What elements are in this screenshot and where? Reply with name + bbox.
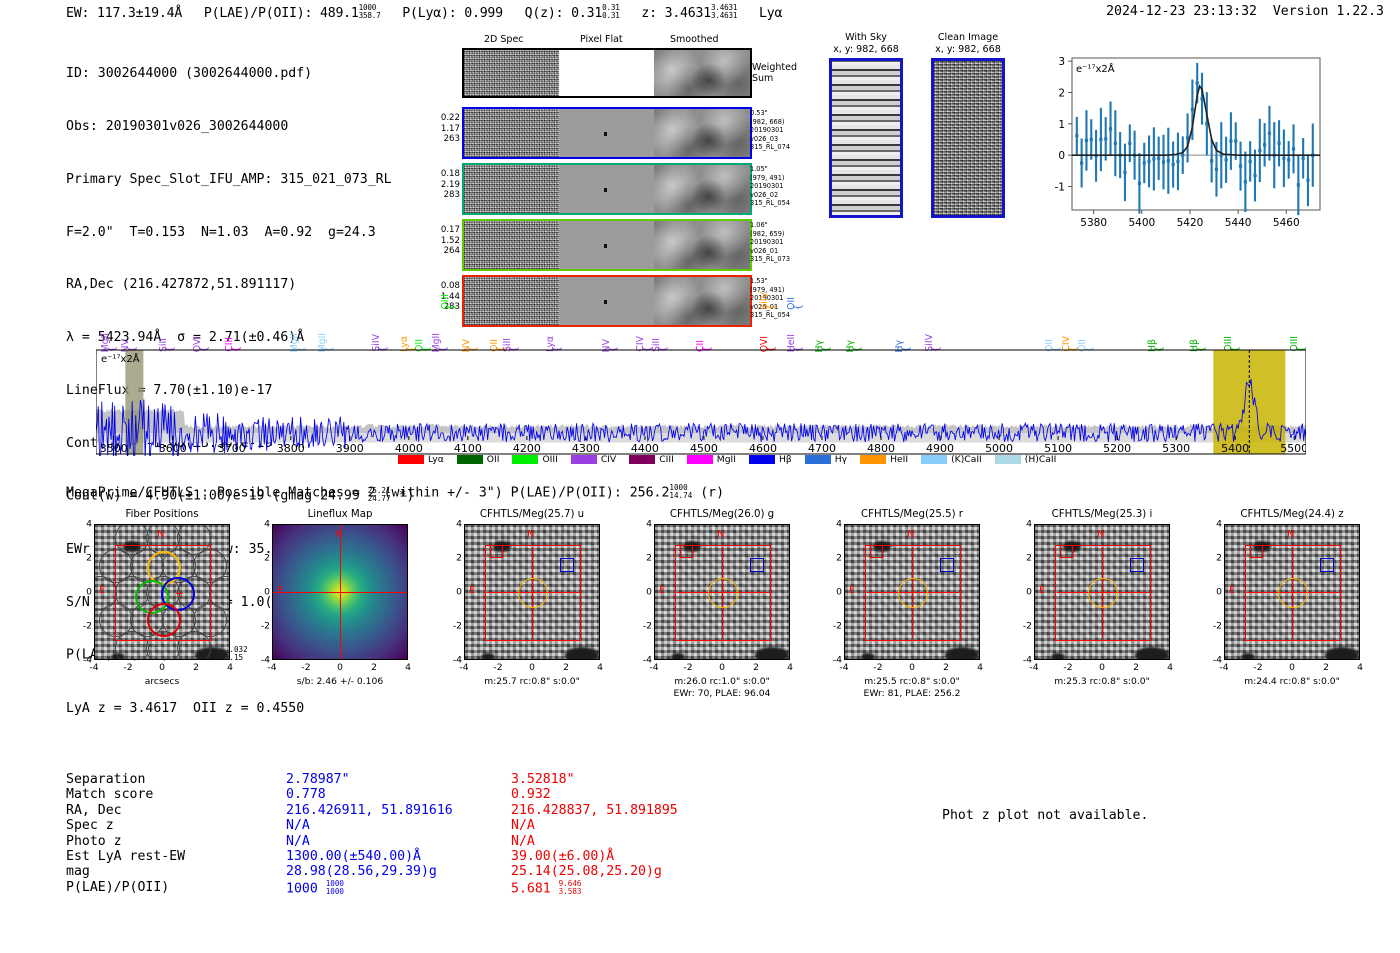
ytick: 2: [1216, 553, 1222, 564]
svg-text:5440: 5440: [1225, 217, 1252, 229]
legend-label-10: (H)CaII: [1025, 454, 1057, 465]
xtick: 0: [337, 662, 343, 673]
source-blob-1: [1135, 647, 1169, 660]
source-blob-2: [481, 653, 495, 660]
fiber-row-2-metadata: 1.05"(979, 491)20190301v026_02315_RL_054: [750, 165, 812, 208]
title-smoothed: Smoothed: [670, 34, 719, 45]
match-table-row: Separation2.78987"3.52818": [66, 772, 678, 787]
line-name: Lyα: [759, 6, 782, 21]
legend-swatch-9: [921, 455, 947, 464]
weighted-sum-label: WeightedSum: [752, 62, 808, 84]
svg-text:0: 0: [1058, 150, 1065, 162]
east-label: E: [1039, 585, 1045, 596]
match-row-label: Est LyA rest-EW: [66, 849, 286, 864]
legend-item-hβ: Hβ: [749, 454, 792, 465]
legend-swatch-7: [805, 455, 831, 464]
xtick: 4: [1357, 662, 1363, 673]
crosshair-vertical: [340, 525, 341, 659]
qz-summary: Q(z): 0.310.310.31: [525, 6, 620, 21]
fiber-row-3-2dspec: [464, 221, 559, 269]
ytick: 4: [836, 519, 842, 530]
match-row-label: P(LAE)/P(OII): [66, 880, 286, 897]
cutout-panel-1[interactable]: Lineflux MapNE-4-2024420-2-4s/b: 2.46 +/…: [240, 508, 440, 688]
svg-text:-1: -1: [1055, 181, 1065, 193]
z-summary: z: 3.46313.46313.4631: [641, 6, 737, 21]
weighted-sum-smoothed: [654, 50, 750, 96]
match-table-row: RA, Dec216.426911, 51.891616216.428837, …: [66, 803, 678, 818]
ytick: 2: [456, 553, 462, 564]
xtick: 4: [597, 662, 603, 673]
match-row-value-2: N/A: [511, 834, 678, 849]
north-label: N: [907, 529, 914, 540]
xtick: -2: [123, 662, 132, 673]
ytick: 0: [1026, 587, 1032, 598]
match-table-row: Spec zN/AN/A: [66, 818, 678, 833]
cutout-image-3[interactable]: NE-4-2024420-2-4: [654, 524, 790, 660]
spectrum-flux-units: e⁻¹⁷x2Å: [101, 352, 140, 365]
legend-label-8: HeII: [890, 454, 908, 465]
field-of-view-box: [1055, 545, 1151, 641]
ytick: 2: [836, 553, 842, 564]
xtick: 0: [159, 662, 165, 673]
match-row-value-2: 216.428837, 51.891895: [511, 803, 678, 818]
field-of-view-box: [115, 545, 211, 641]
north-label: N: [527, 529, 534, 540]
svg-text:5200: 5200: [1103, 442, 1131, 455]
cutout-row: Fiber Positions+NE-4-2024420-2-4arcsecsL…: [0, 508, 1400, 728]
svg-text:5420: 5420: [1177, 217, 1204, 229]
cutout-yticks-6: 420-2-4: [1204, 524, 1222, 660]
xtick: 4: [227, 662, 233, 673]
legend-item-oiii: OIII: [512, 454, 557, 465]
match-table-row: Match score0.7780.932: [66, 787, 678, 802]
match-row-value-1: 28.98(28.56,29.39)g: [286, 864, 511, 879]
cutout-caption-0: arcsecs: [62, 676, 262, 688]
north-label: N: [1097, 529, 1104, 540]
cutout-yticks-4: 420-2-4: [824, 524, 842, 660]
fiber-row-1-2dspec: [464, 109, 559, 157]
legend-swatch-3: [571, 455, 597, 464]
legend-swatch-0: [398, 455, 424, 464]
clean-image-thumb[interactable]: Clean Image x, y: 982, 668: [922, 32, 1014, 218]
legend-swatch-2: [512, 455, 538, 464]
info-line-params: F=2.0" T=0.153 N=1.03 A=0.92 g=24.3: [66, 224, 414, 242]
match-row-value-1: 0.778: [286, 787, 511, 802]
xtick: 4: [405, 662, 411, 673]
ytick: -4: [83, 655, 92, 666]
ytick: -2: [1023, 621, 1032, 632]
source-blob-1: [565, 647, 599, 660]
ytick: 0: [86, 587, 92, 598]
ytick: 4: [264, 519, 270, 530]
cutout-caption-6: m:24.4 rc:0.8" s:0.0": [1192, 676, 1392, 688]
match-row-value-2: 25.14(25.08,25.20)g: [511, 864, 678, 879]
north-label: N: [335, 529, 342, 540]
cutout-panel-5[interactable]: CFHTLS/Meg(25.3) iNE-4-2024420-2-4m:25.3…: [1002, 508, 1202, 688]
cutout-caption-5: m:25.3 rc:0.8" s:0.0": [1002, 676, 1202, 688]
cutout-image-4[interactable]: NE-4-2024420-2-4: [844, 524, 980, 660]
match-row-value-2: 39.00(±6.00)Å: [511, 849, 678, 864]
cutout-frame-5: NE: [1034, 524, 1170, 660]
plya-summary: P(Lyα): 0.999: [402, 6, 503, 21]
ytick: 0: [646, 587, 652, 598]
svg-text:3: 3: [1058, 56, 1065, 68]
ytick: -2: [643, 621, 652, 632]
cutout-frame-6: NE: [1224, 524, 1360, 660]
match-row-value-1: 216.426911, 51.891616: [286, 803, 511, 818]
match-row-value-1: 1300.00(±540.00)Å: [286, 849, 511, 864]
east-label: E: [99, 585, 105, 596]
legend-label-0: Lyα: [428, 454, 444, 465]
east-label: E: [1229, 585, 1235, 596]
cutout-panel-3[interactable]: CFHTLS/Meg(26.0) gNE-4-2024420-2-4m:26.0…: [622, 508, 822, 699]
svg-text:3500: 3500: [100, 442, 128, 455]
match-table-row: Est LyA rest-EW1300.00(±540.00)Å39.00(±6…: [66, 849, 678, 864]
fiber-row-2-smoothed: [654, 165, 750, 213]
ytick: -2: [1213, 621, 1222, 632]
match-row-value-1: N/A: [286, 834, 511, 849]
xtick: -2: [493, 662, 502, 673]
line-bracket-11: {: [448, 304, 458, 310]
clean-image-title: Clean Image: [922, 32, 1014, 44]
pixel-flat-defect-marker: [604, 188, 607, 192]
legend-item-hγ: Hγ: [805, 454, 847, 465]
megaprime-header: MegaPrime/CFHTLS : Possible Matches = 2 …: [66, 484, 724, 501]
weighted-sum-pixelflat: [559, 50, 654, 96]
fiber-row-2-2dspec: [464, 165, 559, 213]
fiber-row-2[interactable]: 0.182.192831.05"(979, 491)20190301v026_0…: [462, 163, 752, 215]
field-of-view-box: [1245, 545, 1341, 641]
timestamp: 2024-12-23 23:13:32: [1106, 4, 1257, 19]
cutout-image-1[interactable]: NE-4-2024420-2-4: [272, 524, 408, 660]
legend-item-heii: HeII: [860, 454, 908, 465]
xtick: -2: [301, 662, 310, 673]
ytick: 4: [86, 519, 92, 530]
legend-label-3: CIV: [601, 454, 616, 465]
xtick: 0: [1289, 662, 1295, 673]
match-row-label: Separation: [66, 772, 286, 787]
cutout-image-2[interactable]: NE-4-2024420-2-4: [464, 524, 600, 660]
match-row-label: Spec z: [66, 818, 286, 833]
legend-item-oii: OII: [457, 454, 500, 465]
ytick: -2: [833, 621, 842, 632]
source-blob-1: [755, 647, 789, 660]
timestamp-version: 2024-12-23 23:13:32 Version 1.22.3: [1106, 4, 1384, 19]
ytick: -2: [453, 621, 462, 632]
match-row-label: mag: [66, 864, 286, 879]
svg-text:5380: 5380: [1080, 217, 1107, 229]
xtick: 2: [753, 662, 759, 673]
legend-item-kcaii: (K)CaII: [921, 454, 982, 465]
legend-swatch-1: [457, 455, 483, 464]
cutout-frame-0: +NE: [94, 524, 230, 660]
svg-text:5460: 5460: [1273, 217, 1300, 229]
legend-swatch-6: [749, 455, 775, 464]
field-of-view-box: [675, 545, 771, 641]
xtick: -2: [683, 662, 692, 673]
ew-summary: EW: 117.3±19.4Å: [66, 6, 182, 21]
north-label: N: [157, 529, 164, 540]
clean-image-coords: x, y: 982, 668: [922, 44, 1014, 56]
svg-text:5400: 5400: [1221, 442, 1249, 455]
legend-label-6: Hβ: [779, 454, 792, 465]
ytick: 4: [1216, 519, 1222, 530]
xtick: 2: [1133, 662, 1139, 673]
match-row-value-1: N/A: [286, 818, 511, 833]
cutout-image-5[interactable]: NE-4-2024420-2-4: [1034, 524, 1170, 660]
fiber-row-3-pixelflat: [559, 221, 654, 269]
summary-header: EW: 117.3±19.4Å P(LAE)/P(OII): 489.11000…: [66, 4, 796, 21]
north-label: N: [1287, 529, 1294, 540]
cutout-yticks-1: 420-2-4: [252, 524, 270, 660]
title-pixelflat: Pixel Flat: [580, 34, 623, 45]
ytick: 4: [1026, 519, 1032, 530]
with-sky-thumb[interactable]: With Sky x, y: 982, 668: [820, 32, 912, 218]
ytick: 0: [836, 587, 842, 598]
with-sky-title: With Sky: [820, 32, 912, 44]
match-table-row: Photo zN/AN/A: [66, 834, 678, 849]
match-row-plae-2: 5.681 9.6463.583: [511, 880, 678, 897]
svg-text:3700: 3700: [218, 442, 246, 455]
emission-line-zoom-plot[interactable]: e⁻¹⁷x2Å53805400542054405460-10123: [1030, 40, 1330, 259]
xtick: 2: [1323, 662, 1329, 673]
pixel-flat-defect-marker: [604, 244, 607, 248]
xtick: 4: [787, 662, 793, 673]
cutout-frame-4: NE: [844, 524, 980, 660]
2d-spec-titles: 2D Spec Pixel Flat Smoothed: [462, 34, 752, 48]
east-label: E: [659, 585, 665, 596]
clean-image-image: [931, 58, 1005, 218]
cutout-yticks-2: 420-2-4: [444, 524, 462, 660]
legend-swatch-5: [687, 455, 713, 464]
title-2dspec: 2D Spec: [484, 34, 524, 45]
ytick: 0: [456, 587, 462, 598]
ytick: -4: [453, 655, 462, 666]
with-sky-image: [829, 58, 903, 218]
ytick: -2: [83, 621, 92, 632]
legend-item-civ: CIV: [571, 454, 616, 465]
xtick: 2: [943, 662, 949, 673]
match-table: Separation2.78987"3.52818"Match score0.7…: [66, 772, 678, 897]
ytick: 2: [86, 553, 92, 564]
cutout-subcaption-3: EWr: 70, PLAE: 96.04: [622, 688, 822, 700]
cutout-caption-1: s/b: 2.46 +/- 0.106: [240, 676, 440, 688]
fiber-row-1-pixelflat: [559, 109, 654, 157]
ytick: 2: [1026, 553, 1032, 564]
photz-note: Phot z plot not available.: [942, 808, 1148, 823]
east-label: E: [849, 585, 855, 596]
legend-label-1: OII: [487, 454, 500, 465]
xtick: 0: [1099, 662, 1105, 673]
fiber-row-1[interactable]: 0.221.172630.53"(982, 668)20190301v026_0…: [462, 107, 752, 159]
ytick: 4: [646, 519, 652, 530]
source-blob-1: [1325, 647, 1359, 660]
info-line-id: ID: 3002644000 (3002644000.pdf): [66, 65, 414, 83]
source-blob-2: [861, 653, 875, 660]
legend-item-mgii: MgII: [687, 454, 736, 465]
svg-text:5300: 5300: [1162, 442, 1190, 455]
cutout-yticks-5: 420-2-4: [1014, 524, 1032, 660]
source-blob-2: [671, 653, 685, 660]
fiber-row-1-weights: 0.221.17263: [420, 113, 460, 145]
ytick: -4: [1023, 655, 1032, 666]
fiber-row-3-smoothed: [654, 221, 750, 269]
xtick: -2: [1253, 662, 1262, 673]
ytick: -4: [643, 655, 652, 666]
cutout-yticks-3: 420-2-4: [634, 524, 652, 660]
east-label: E: [277, 585, 283, 596]
cutout-panel-6[interactable]: CFHTLS/Meg(24.4) zNE-4-2024420-2-4m:24.4…: [1192, 508, 1392, 688]
cutout-yticks-0: 420-2-4: [74, 524, 92, 660]
cutout-image-0[interactable]: +NE-4-2024420-2-4: [94, 524, 230, 660]
legend-label-2: OIII: [542, 454, 557, 465]
svg-text:3900: 3900: [336, 442, 364, 455]
match-row-value-1: 2.78987": [286, 772, 511, 787]
xtick: -2: [873, 662, 882, 673]
gaussian-fit-curve: [1072, 86, 1320, 155]
legend-swatch-10: [995, 455, 1021, 464]
zoom-plot-flux-units: e⁻¹⁷x2Å: [1076, 62, 1115, 75]
source-blob-2: [1051, 653, 1065, 660]
observed-flux-points: [1075, 63, 1314, 215]
match-row-label: Match score: [66, 787, 286, 802]
match-row-value-2: 3.52818": [511, 772, 678, 787]
cutout-panel-0[interactable]: Fiber Positions+NE-4-2024420-2-4arcsecs: [62, 508, 262, 688]
svg-text:2: 2: [1058, 87, 1065, 99]
match-row-label: RA, Dec: [66, 803, 286, 818]
field-of-view-box: [865, 545, 961, 641]
match-table-grid: Separation2.78987"3.52818"Match score0.7…: [66, 772, 678, 897]
ytick: 0: [1216, 587, 1222, 598]
match-row-plae-1: 1000 10001000: [286, 880, 511, 897]
info-line-obs: Obs: 20190301v026_3002644000: [66, 118, 414, 136]
match-row-label: Photo z: [66, 834, 286, 849]
ytick: -4: [261, 655, 270, 666]
xtick: -2: [1063, 662, 1072, 673]
svg-text:5500: 5500: [1280, 442, 1306, 455]
legend-label-9: (K)CaII: [951, 454, 982, 465]
xtick: 0: [909, 662, 915, 673]
xtick: 2: [193, 662, 199, 673]
cutout-image-6[interactable]: NE-4-2024420-2-4: [1224, 524, 1360, 660]
info-line-slot: Primary Spec_Slot_IFU_AMP: 315_021_073_R…: [66, 171, 414, 189]
cutout-panel-2[interactable]: CFHTLS/Meg(25.7) uNE-4-2024420-2-4m:25.7…: [432, 508, 632, 688]
match-table-row: mag28.98(28.56,29.39)g25.14(25.08,25.20)…: [66, 864, 678, 879]
north-label: N: [717, 529, 724, 540]
version: Version 1.22.3: [1273, 4, 1384, 19]
line-bracket-22: {: [794, 304, 804, 310]
legend-item-hcaii: (H)CaII: [995, 454, 1057, 465]
source-blob-1: [945, 647, 979, 660]
fiber-row-3-metadata: 1.06"(982, 659)20190301v026_01315_RL_073: [750, 221, 812, 264]
legend-item-ciii: CIII: [629, 454, 674, 465]
fiber-row-3-weights: 0.171.52264: [420, 225, 460, 257]
fiber-row-1-metadata: 0.53"(982, 668)20190301v026_03315_RL_074: [750, 109, 812, 152]
cutout-frame-2: NE: [464, 524, 600, 660]
emission-line-label-strip: MgII{NV{SiII{OVI{CIII{MgII{MgII{SiIV{Lyα…: [0, 272, 1400, 352]
fiber-row-1-smoothed: [654, 109, 750, 157]
source-blob-2: [1241, 653, 1255, 660]
ytick: -2: [261, 621, 270, 632]
xtick: 2: [563, 662, 569, 673]
ytick: -4: [1213, 655, 1222, 666]
cutout-frame-3: NE: [654, 524, 790, 660]
fiber-row-3[interactable]: 0.171.522641.06"(982, 659)20190301v026_0…: [462, 219, 752, 271]
cutout-caption-4: m:25.5 rc:0.8" s:0.0": [812, 676, 1012, 688]
legend-swatch-4: [629, 455, 655, 464]
match-table-row-plae: P(LAE)/P(OII)1000 100010005.681 9.6463.5…: [66, 880, 678, 897]
xtick: 2: [371, 662, 377, 673]
weighted-sum-row: WeightedSum: [462, 48, 752, 98]
match-row-value-2: 0.932: [511, 787, 678, 802]
legend-label-5: MgII: [717, 454, 736, 465]
svg-text:1: 1: [1058, 119, 1065, 131]
legend-item-lyα: Lyα: [398, 454, 444, 465]
line-bracket-20: {: [767, 304, 777, 310]
weighted-sum-2dspec: [464, 50, 559, 96]
svg-text:3800: 3800: [277, 442, 305, 455]
svg-text:3600: 3600: [159, 442, 187, 455]
match-row-value-2: N/A: [511, 818, 678, 833]
with-sky-coords: x, y: 982, 668: [820, 44, 912, 56]
pixel-flat-defect-marker: [604, 132, 607, 136]
fiber-row-2-pixelflat: [559, 165, 654, 213]
ytick: -4: [833, 655, 842, 666]
east-label: E: [469, 585, 475, 596]
svg-text:5400: 5400: [1128, 217, 1155, 229]
legend-label-7: Hγ: [835, 454, 847, 465]
cutout-frame-1: NE: [272, 524, 408, 660]
cutout-caption-3: m:26.0 rc:1.0" s:0.0": [622, 676, 822, 688]
ytick: 0: [264, 587, 270, 598]
xtick: 4: [977, 662, 983, 673]
cutout-panel-4[interactable]: CFHTLS/Meg(25.5) rNE-4-2024420-2-4m:25.5…: [812, 508, 1012, 699]
xtick: 0: [529, 662, 535, 673]
cutout-caption-2: m:25.7 rc:0.8" s:0.0": [432, 676, 632, 688]
xtick: 4: [1167, 662, 1173, 673]
ytick: 4: [456, 519, 462, 530]
plae-summary: P(LAE)/P(OII): 489.11000358.7: [204, 6, 381, 21]
fiber-row-2-weights: 0.182.19283: [420, 169, 460, 201]
field-of-view-box: [485, 545, 581, 641]
xtick: 0: [719, 662, 725, 673]
cutout-subcaption-4: EWr: 81, PLAE: 256.2: [812, 688, 1012, 700]
spectrum-legend: LyαOIIOIIICIVCIIIMgIIHβHγHeII(K)CaII(H)C…: [398, 454, 1064, 465]
ytick: 2: [264, 553, 270, 564]
legend-label-4: CIII: [659, 454, 674, 465]
ytick: 2: [646, 553, 652, 564]
legend-swatch-8: [860, 455, 886, 464]
